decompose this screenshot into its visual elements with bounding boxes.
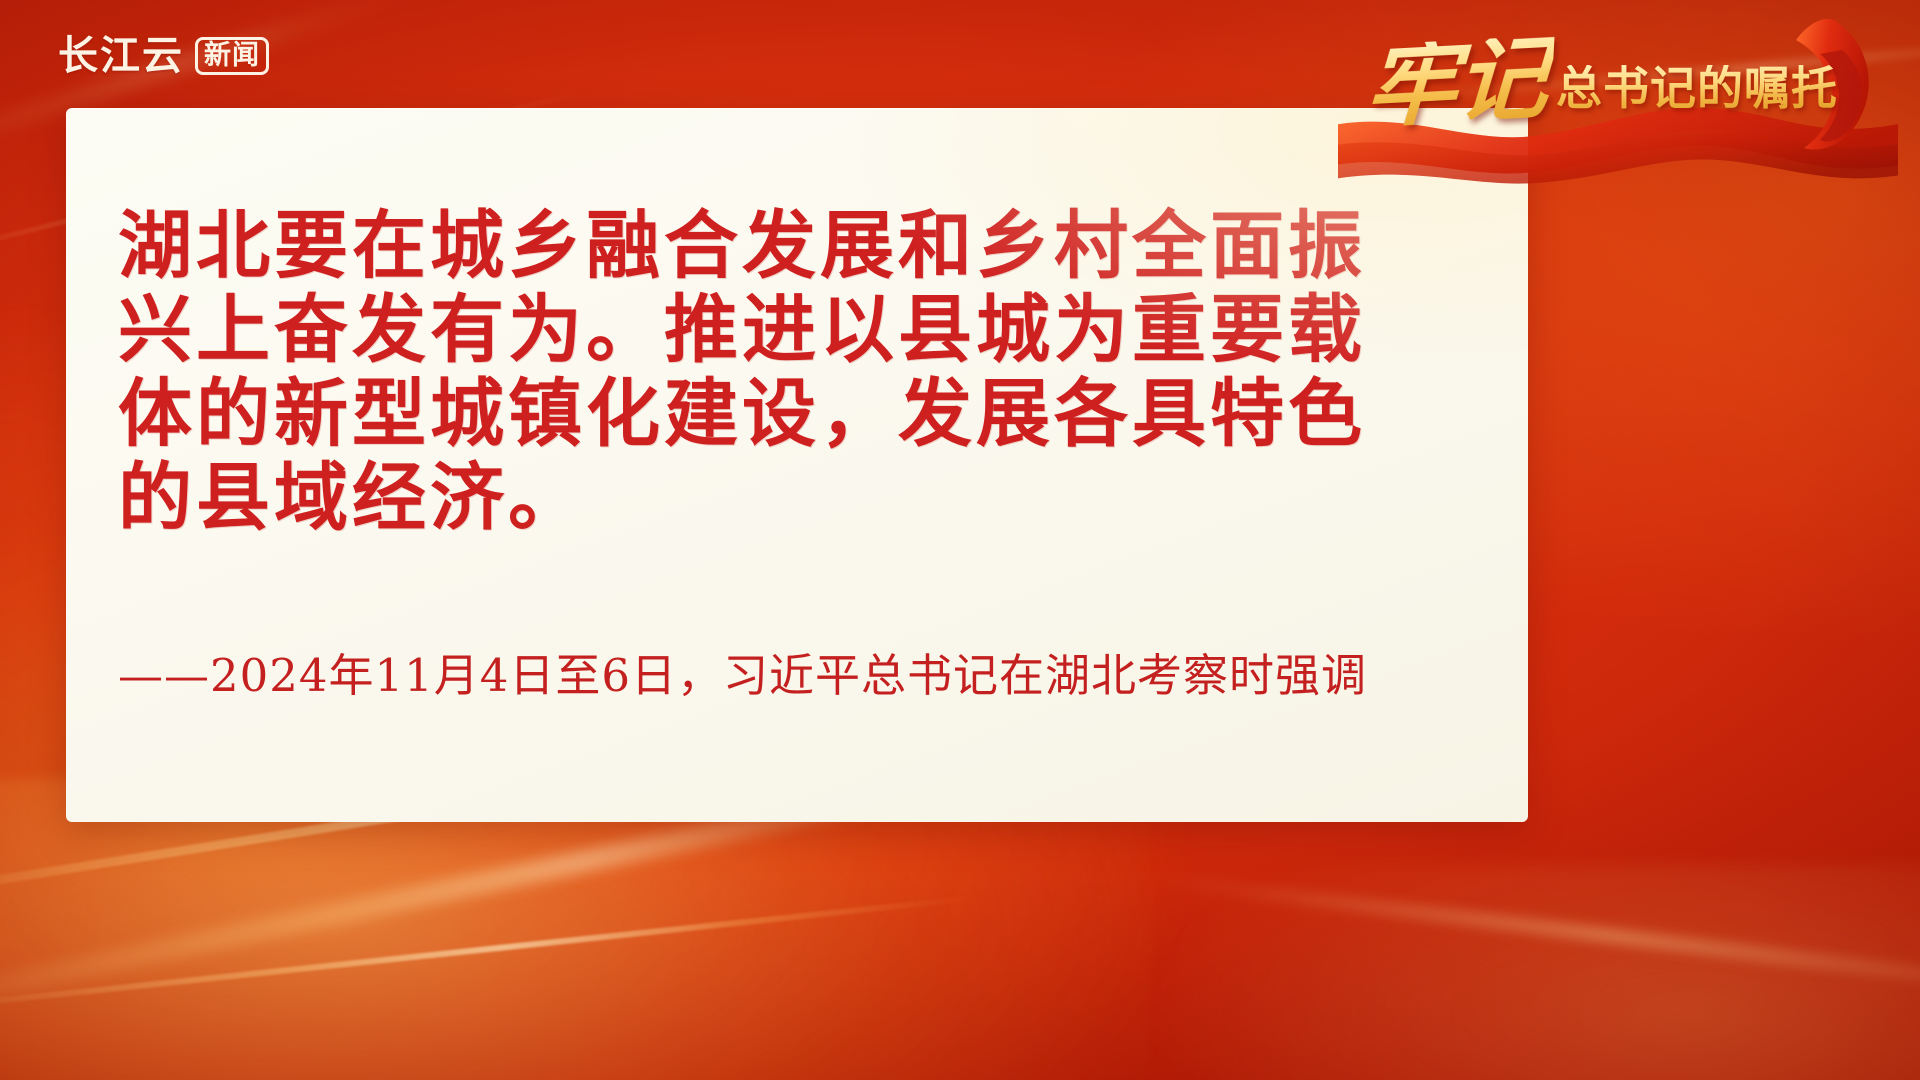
program-title-lockup: 牢记 总书记的嘱托 <box>1338 14 1898 184</box>
quote-line: 体的新型城镇化建设，发展各具特色 <box>118 372 1496 456</box>
quote-line: 的县域经济。 <box>118 456 1496 540</box>
quote-line: 兴上奋发有为。推进以县城为重要载 <box>118 288 1496 372</box>
program-title-brush: 牢记 <box>1363 35 1554 129</box>
channel-logo: 长江云 新闻 <box>58 36 269 76</box>
poster-canvas: 长江云 新闻 <box>0 0 1920 1080</box>
quote-attribution: ——2024年11月4日至6日，习近平总书记在湖北考察时强调 <box>118 648 1367 704</box>
quote-text-block: 湖北要在城乡融合发展和乡村全面振 兴上奋发有为。推进以县城为重要载 体的新型城镇… <box>118 204 1496 540</box>
quote-card: 湖北要在城乡融合发展和乡村全面振 兴上奋发有为。推进以县城为重要载 体的新型城镇… <box>66 108 1528 822</box>
background-haze-bottom-left <box>0 778 1152 1080</box>
channel-logo-name: 长江云 <box>58 36 184 76</box>
program-title-text: 牢记 总书记的嘱托 <box>1366 40 1838 125</box>
channel-logo-badge: 新闻 <box>195 37 269 76</box>
program-title-rest: 总书记的嘱托 <box>1556 65 1838 111</box>
quote-line: 湖北要在城乡融合发展和乡村全面振 <box>118 204 1496 288</box>
